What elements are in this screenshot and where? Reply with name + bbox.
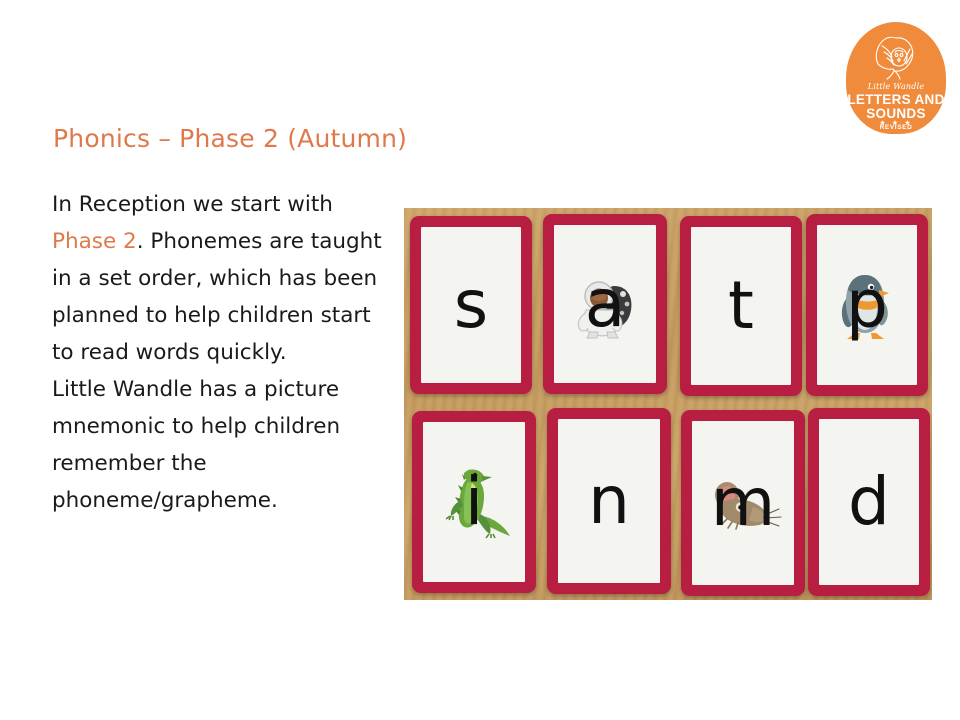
flashcard-letter-a: a bbox=[554, 225, 656, 383]
phase-2-highlight: Phase 2 bbox=[52, 229, 137, 254]
body-paragraph-2: Little Wandle has a picture mnemonic to … bbox=[52, 371, 382, 519]
flashcard-letter-n: n bbox=[558, 419, 660, 583]
flashcard-t-face: t bbox=[691, 227, 791, 385]
logo-script-text: Little Wandle bbox=[846, 82, 946, 91]
flashcard-a: a bbox=[543, 214, 667, 394]
page-title: Phonics – Phase 2 (Autumn) bbox=[53, 124, 407, 153]
flashcard-s: s bbox=[410, 216, 532, 394]
flashcard-d-face: d bbox=[819, 419, 919, 585]
body-p1-part1: In Reception we start with bbox=[52, 192, 333, 217]
flashcard-s-face: s bbox=[421, 227, 521, 383]
flashcard-n: n bbox=[547, 408, 671, 594]
flashcard-n-face: n bbox=[558, 419, 660, 583]
body-paragraph-1: In Reception we start with Phase 2. Phon… bbox=[52, 186, 382, 371]
slide-canvas: Little Wandle LETTERS AND SOUNDS ★ ★ ★ R… bbox=[0, 0, 960, 720]
flashcard-letter-s: s bbox=[421, 227, 521, 383]
phase-2-flashcards-photo: s bbox=[404, 208, 932, 600]
flashcard-t: t bbox=[680, 216, 802, 396]
flashcard-d: d bbox=[808, 408, 930, 596]
little-wandle-logo: Little Wandle LETTERS AND SOUNDS ★ ★ ★ R… bbox=[846, 22, 946, 134]
flashcard-p: p bbox=[806, 214, 928, 396]
flashcard-letter-d: d bbox=[819, 419, 919, 585]
logo-revised-label: REVISED bbox=[846, 124, 946, 131]
flashcard-i: i bbox=[412, 411, 536, 593]
body-text-block: In Reception we start with Phase 2. Phon… bbox=[52, 186, 382, 519]
owl-icon bbox=[866, 32, 926, 82]
flashcard-p-face: p bbox=[817, 225, 917, 385]
flashcard-letter-m: m bbox=[692, 421, 794, 585]
logo-line-1: LETTERS AND bbox=[846, 92, 946, 107]
flashcard-i-face: i bbox=[423, 422, 525, 582]
flashcard-letter-p: p bbox=[817, 225, 917, 385]
flashcard-m: m bbox=[681, 410, 805, 596]
flashcard-letter-i: i bbox=[423, 422, 525, 582]
flashcard-a-face: a bbox=[554, 225, 656, 383]
flashcard-m-face: m bbox=[692, 421, 794, 585]
flashcard-letter-t: t bbox=[691, 227, 791, 385]
